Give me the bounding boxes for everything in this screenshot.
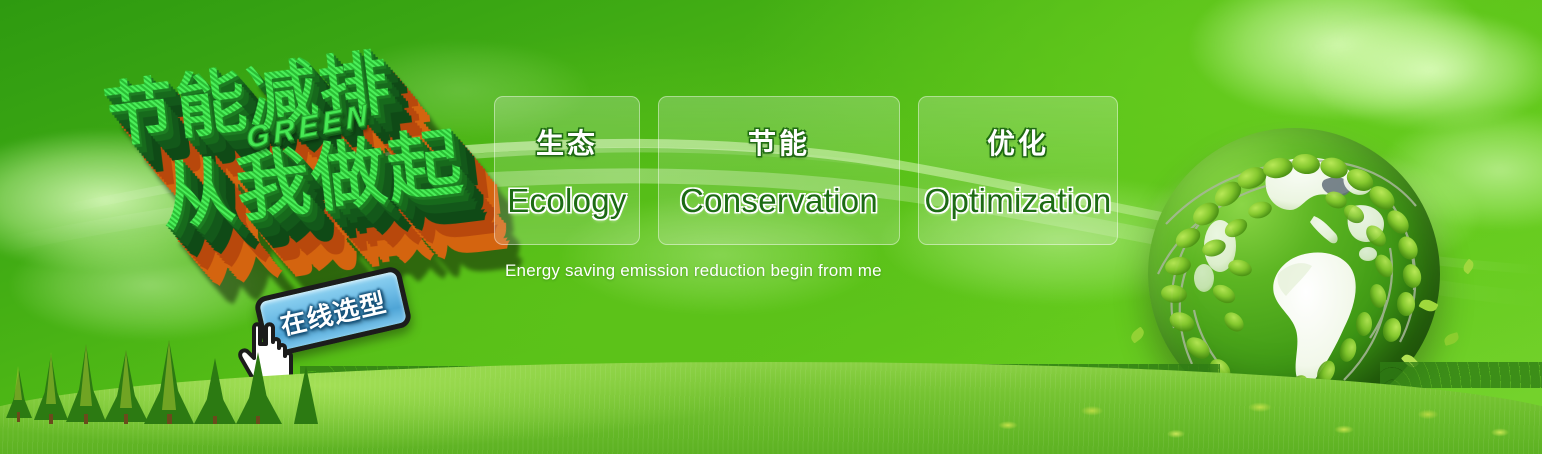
banner-tagline: Energy saving emission reduction begin f… <box>505 261 882 281</box>
feature-card-ecology[interactable]: 生态 Ecology <box>494 96 640 245</box>
falling-leaf-icon <box>1443 332 1460 346</box>
feature-card-list: 生态 Ecology 节能 Conservation 优化 Optimizati… <box>494 96 1118 245</box>
feature-card-title-cn: 生态 <box>536 122 598 162</box>
cloud-icon <box>1300 10 1542 130</box>
online-selection-button[interactable]: 在线选型 <box>253 265 413 359</box>
feature-card-title-cn: 优化 <box>987 122 1049 162</box>
falling-leaf-icon <box>1128 327 1146 344</box>
feature-card-title-en: Conservation <box>680 182 878 220</box>
online-selection-button-label: 在线选型 <box>276 282 390 342</box>
feature-card-optimization[interactable]: 优化 Optimization <box>918 96 1118 245</box>
feature-card-title-cn: 节能 <box>748 122 810 162</box>
eco-promo-banner: 节能减排 从我做起 GREEN 在线选型 生态 Ecology 节能 Conse… <box>0 0 1542 454</box>
feature-card-conservation[interactable]: 节能 Conservation <box>658 96 900 245</box>
hero-title: 节能减排 从我做起 GREEN <box>83 10 508 287</box>
falling-leaf-icon <box>1461 259 1476 275</box>
feature-card-title-en: Ecology <box>507 182 627 220</box>
cloud-icon <box>1190 0 1490 120</box>
feature-card-title-en: Optimization <box>924 182 1111 220</box>
